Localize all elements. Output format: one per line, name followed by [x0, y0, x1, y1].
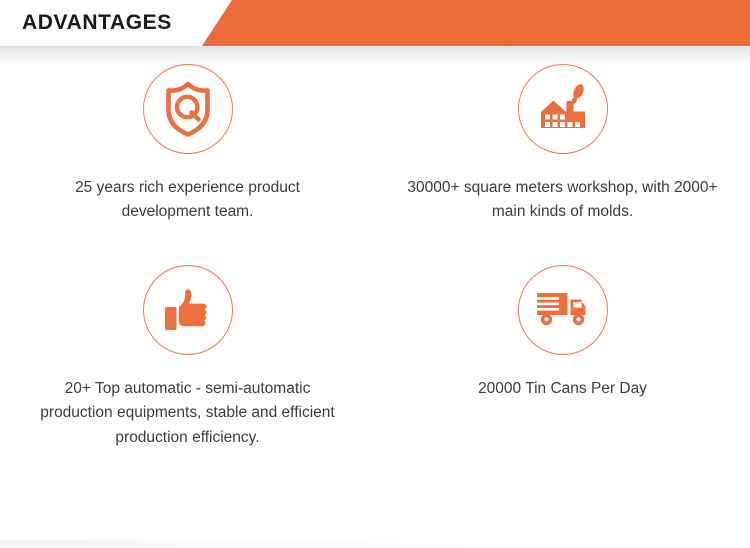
thumbs-up-icon — [143, 265, 233, 355]
page-header: ADVANTAGES — [0, 0, 750, 46]
advantages-grid: 25 years rich experience product develop… — [0, 64, 750, 450]
page-title: ADVANTAGES — [22, 0, 172, 46]
bottom-edge-band — [0, 540, 490, 548]
advantage-card-1: 25 years rich experience product develop… — [0, 64, 365, 259]
header-drop-shadow — [0, 46, 750, 64]
advantage-text-1: 25 years rich experience product develop… — [38, 176, 338, 225]
advantage-card-2: 30000+ square meters workshop, with 2000… — [365, 64, 750, 259]
advantage-text-3: 20+ Top automatic - semi-automatic produ… — [38, 377, 338, 450]
advantage-card-4: 20000 Tin Cans Per Day — [365, 259, 750, 450]
advantage-card-3: 20+ Top automatic - semi-automatic produ… — [0, 259, 365, 450]
shield-quality-icon — [143, 64, 233, 154]
delivery-truck-icon — [518, 265, 608, 355]
advantage-text-2: 30000+ square meters workshop, with 2000… — [403, 176, 723, 225]
advantage-text-4: 20000 Tin Cans Per Day — [403, 377, 723, 401]
factory-icon — [518, 64, 608, 154]
